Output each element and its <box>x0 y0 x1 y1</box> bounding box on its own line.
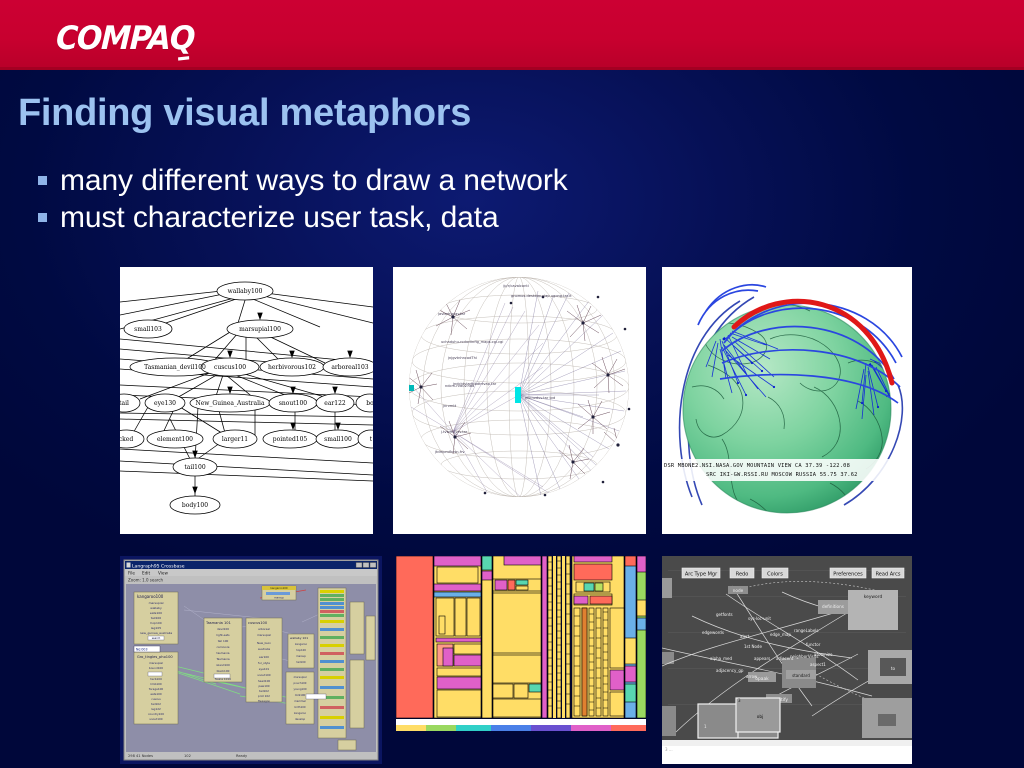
svg-text:Ready: Ready <box>236 754 248 758</box>
svg-text:limb100: limb100 <box>150 682 162 686</box>
svg-text:alpha_med: alpha_med <box>710 656 732 661</box>
svg-text:New_Guinea_Australia: New_Guinea_Australia <box>195 400 264 407</box>
svg-text:ear100: ear100 <box>259 655 269 659</box>
svg-text:/p/r/cavalcanti: /p/r/cavalcanti <box>503 284 529 288</box>
svg-text:to: to <box>891 666 896 671</box>
svg-text:opaak: opaak <box>755 676 769 682</box>
figure-grid: wallaby100 small103 marsupial100 Tasmani… <box>0 0 1024 768</box>
svg-text:marsup: marsup <box>274 597 284 600</box>
svg-text:Hexagon: Hexagon <box>258 699 271 703</box>
toolbar-label-colors: Colors <box>767 572 783 578</box>
svg-text:marsupial: marsupial <box>257 633 271 637</box>
svg-text:getfonts: getfonts <box>716 612 733 617</box>
svg-text:adjacency_gp: adjacency_gp <box>716 668 744 673</box>
svg-text:j.tvwm.tvtv.tar: j.tvwm.tvtv.tar <box>440 430 468 434</box>
svg-text:eats100: eats100 <box>150 611 162 615</box>
svg-text:carnivore: carnivore <box>216 645 229 649</box>
svg-text:head100: head100 <box>258 679 271 683</box>
svg-text:marsupial100: marsupial100 <box>239 326 281 333</box>
svg-text:jmcnvdvv.tar tvd: jmcnvdvv.tar tvd <box>524 396 555 400</box>
svg-text:marsupial: marsupial <box>149 601 164 605</box>
svg-text:pointed105: pointed105 <box>273 436 308 443</box>
svg-text:small100: small100 <box>324 436 352 443</box>
svg-text:kangaroo: kangaroo <box>294 711 307 715</box>
svg-text:Tasmania: Tasmania <box>215 657 229 661</box>
svg-text:tail102: tail102 <box>151 702 161 706</box>
svg-text:wallaby100: wallaby100 <box>228 288 263 295</box>
svg-text:keyword: keyword <box>864 594 883 600</box>
svg-text:pouch100: pouch100 <box>294 681 307 685</box>
svg-text:snout100: snout100 <box>279 400 307 407</box>
svg-text:Tasmania 101: Tasmania 101 <box>205 621 231 625</box>
svg-text:tail 100: tail 100 <box>218 639 229 643</box>
node-link-graph-svg: wallaby100 small103 marsupial100 Tasmani… <box>120 267 373 534</box>
toolbar-label-arc-type-mgr: Arc Type Mgr <box>685 572 718 578</box>
svg-text:Zoom: 1.0 search: Zoom: 1.0 search <box>128 578 164 583</box>
svg-text:javierrrjplay.tar: javierrrjplay.tar <box>437 312 466 316</box>
svg-text:wallaby: wallaby <box>150 606 162 610</box>
svg-text:jnjgvtnhncodThi: jnjgvtnhncodThi <box>447 356 477 360</box>
svg-text:jnrvmtt: jnrvmtt <box>442 404 457 408</box>
svg-text:milk100: milk100 <box>295 693 306 697</box>
svg-text:arboreal103: arboreal103 <box>331 364 368 371</box>
svg-text:appears: appears <box>754 656 770 661</box>
svg-text:New_Guin: New_Guin <box>257 641 271 645</box>
svg-text:1st Node: 1st Node <box>744 644 762 649</box>
svg-text:marsup: marsup <box>296 655 306 658</box>
globe-caption-line-2: SRC IKI-GW.RSSI.RU MOSCOW RUSSIA 55.75 3… <box>706 472 858 478</box>
sphere-graph-svg: /p/r/cavalcanti gnomos.desktop-vlap ugon… <box>393 267 646 534</box>
svg-text:sys-loc-unit: sys-loc-unit <box>748 616 771 621</box>
svg-text:File: File <box>128 571 135 576</box>
svg-text:snout100: snout100 <box>149 717 162 721</box>
svg-text:forage100: forage100 <box>149 687 164 691</box>
svg-text:devil100: devil100 <box>217 627 229 631</box>
svg-text:kangaroo100: kangaroo100 <box>137 594 164 599</box>
svg-text:country100: country100 <box>148 712 164 716</box>
figure-mbone-globe[interactable]: DSR MBONE2.NSI.NASA.GOV MOUNTAIN VIEW CA… <box>662 267 912 534</box>
svg-text:island100: island100 <box>216 663 230 667</box>
svg-text:Tasmanian_devil100: Tasmanian_devil100 <box>144 364 206 371</box>
svg-text:uchaduhu-rcduclinfig_maps.cgi.: uchaduhu-rcduclinfig_maps.cgi.cgi <box>441 340 503 344</box>
svg-text:arrow: arrow <box>746 674 758 679</box>
figure-node-link-graph[interactable]: wallaby100 small103 marsupial100 Tasmani… <box>120 267 373 534</box>
svg-text:arboreal: arboreal <box>258 627 270 631</box>
svg-text:jtdmprvfkcsn.frv: jtdmprvfkcsn.frv <box>434 450 465 454</box>
svg-text:element100: element100 <box>157 436 193 443</box>
svg-text:bound100: bound100 <box>149 666 163 670</box>
svg-text:develop: develop <box>295 717 306 721</box>
svg-text:tail100: tail100 <box>297 660 306 664</box>
figure-sphere-graph[interactable]: /p/r/cavalcanti gnomos.desktop-vlap ugon… <box>393 267 646 534</box>
svg-text:snout100: snout100 <box>257 673 270 677</box>
svg-text:kangaroo100: kangaroo100 <box>270 586 287 590</box>
svg-text:search: search <box>152 636 161 640</box>
svg-text:tail100: tail100 <box>151 616 161 620</box>
svg-text:herb100: herb100 <box>150 677 162 681</box>
figure-app-window[interactable]: Langraph95 Crossbase File Edit View Zoom… <box>120 556 382 764</box>
svg-text:functor: functor <box>806 642 821 647</box>
svg-text:eats100: eats100 <box>150 692 162 696</box>
svg-text:light-eats: light-eats <box>216 633 230 637</box>
svg-text:young100: young100 <box>293 687 306 691</box>
figure-treemap[interactable] <box>396 556 646 764</box>
svg-text:herbivorous102: herbivorous102 <box>268 364 316 371</box>
svg-text:No:003: No:003 <box>136 647 148 651</box>
svg-text:marsupial: marsupial <box>149 661 163 665</box>
svg-text:jndchtvlarfdbdtrtvap.tar: jndchtvlarfdbdtrtvap.tar <box>452 382 497 386</box>
svg-text:paw100: paw100 <box>258 684 269 688</box>
svg-text:eye130: eye130 <box>154 400 176 407</box>
svg-text:Edit: Edit <box>142 571 150 576</box>
svg-text:obj: obj <box>757 714 763 719</box>
svg-text:tail: tail <box>120 400 129 407</box>
svg-text:edgewords: edgewords <box>702 630 724 635</box>
svg-text:bo: bo <box>366 400 373 407</box>
svg-text:102: 102 <box>184 754 191 758</box>
svg-text:edge_map: edge_map <box>770 632 791 637</box>
svg-text:small103: small103 <box>134 326 162 333</box>
treemap-svg <box>396 556 646 764</box>
dark-3d-graph-svg: Arc Type Mgr Redo Colors Preferences Rea… <box>662 556 912 764</box>
svg-text:cuscus: cuscus <box>151 697 161 701</box>
svg-text:kangaroo: kangaroo <box>295 642 308 646</box>
svg-text:298 41 Nodes: 298 41 Nodes <box>128 754 153 758</box>
toolbar-label-redo: Redo <box>736 572 749 578</box>
svg-text:wallaby 101: wallaby 101 <box>290 636 308 640</box>
svg-text:new_guinea_australia: new_guinea_australia <box>140 631 173 635</box>
svg-text:cked: cked <box>120 436 133 443</box>
svg-text:leg105: leg105 <box>151 626 161 630</box>
svg-text:node: node <box>733 588 744 593</box>
toolbar-label-read-arcs: Read Arcs <box>876 572 901 578</box>
svg-text:3 ...: 3 ... <box>665 747 673 752</box>
svg-text:hop100: hop100 <box>296 648 306 652</box>
svg-text:mammal: mammal <box>294 699 306 703</box>
svg-text:birth100: birth100 <box>294 705 305 709</box>
svg-text:fur_style: fur_style <box>258 661 270 665</box>
globe-caption-line-1: DSR MBONE2.NSI.NASA.GOV MOUNTAIN VIEW CA… <box>664 463 850 469</box>
svg-text:View: View <box>158 571 169 576</box>
svg-text:australia: australia <box>258 647 270 651</box>
svg-text:eye101: eye101 <box>259 667 270 671</box>
svg-text:tail102: tail102 <box>259 689 269 693</box>
svg-text:cuscus100: cuscus100 <box>214 364 246 371</box>
svg-text:leg122: leg122 <box>151 707 161 711</box>
svg-text:tasmania: tasmania <box>217 651 230 655</box>
mbone-globe-svg: DSR MBONE2.NSI.NASA.GOV MOUNTAIN VIEW CA… <box>662 267 912 534</box>
svg-text:standard: standard <box>792 673 810 678</box>
svg-text:neighborVisits: neighborVisits <box>790 654 818 659</box>
svg-text:gnomos.desktop-vlap ugong.tar: gnomos.desktop-vlap ugong.tar.it <box>511 294 572 298</box>
app-window-svg: Langraph95 Crossbase File Edit View Zoom… <box>120 556 382 764</box>
svg-text:definitions: definitions <box>822 604 844 609</box>
svg-text:hop100: hop100 <box>150 621 161 625</box>
svg-text:rangeLabels: rangeLabels <box>794 628 819 633</box>
svg-text:ear122: ear122 <box>324 400 346 407</box>
svg-text:marsupial: marsupial <box>294 675 307 679</box>
svg-text:black100: black100 <box>217 669 230 673</box>
svg-text:cuscus100: cuscus100 <box>248 621 268 625</box>
svg-text:Gro_tingles_pho100: Gro_tingles_pho100 <box>137 655 173 659</box>
svg-text:tail100: tail100 <box>184 464 205 471</box>
svg-text:body100: body100 <box>182 502 208 509</box>
svg-text:aspect1: aspect1 <box>810 662 826 667</box>
svg-text:larger11: larger11 <box>222 436 248 443</box>
svg-text:alert: alert <box>740 634 750 639</box>
slide-canvas: COMPAQ Finding visual metaphors many dif… <box>0 0 1024 768</box>
figure-dark-3d-graph[interactable]: Arc Type Mgr Redo Colors Preferences Rea… <box>662 556 912 764</box>
toolbar-label-preferences: Preferences <box>833 572 863 578</box>
svg-text:Langraph95 Crossbase: Langraph95 Crossbase <box>132 564 185 570</box>
svg-text:prot 102: prot 102 <box>258 694 270 698</box>
